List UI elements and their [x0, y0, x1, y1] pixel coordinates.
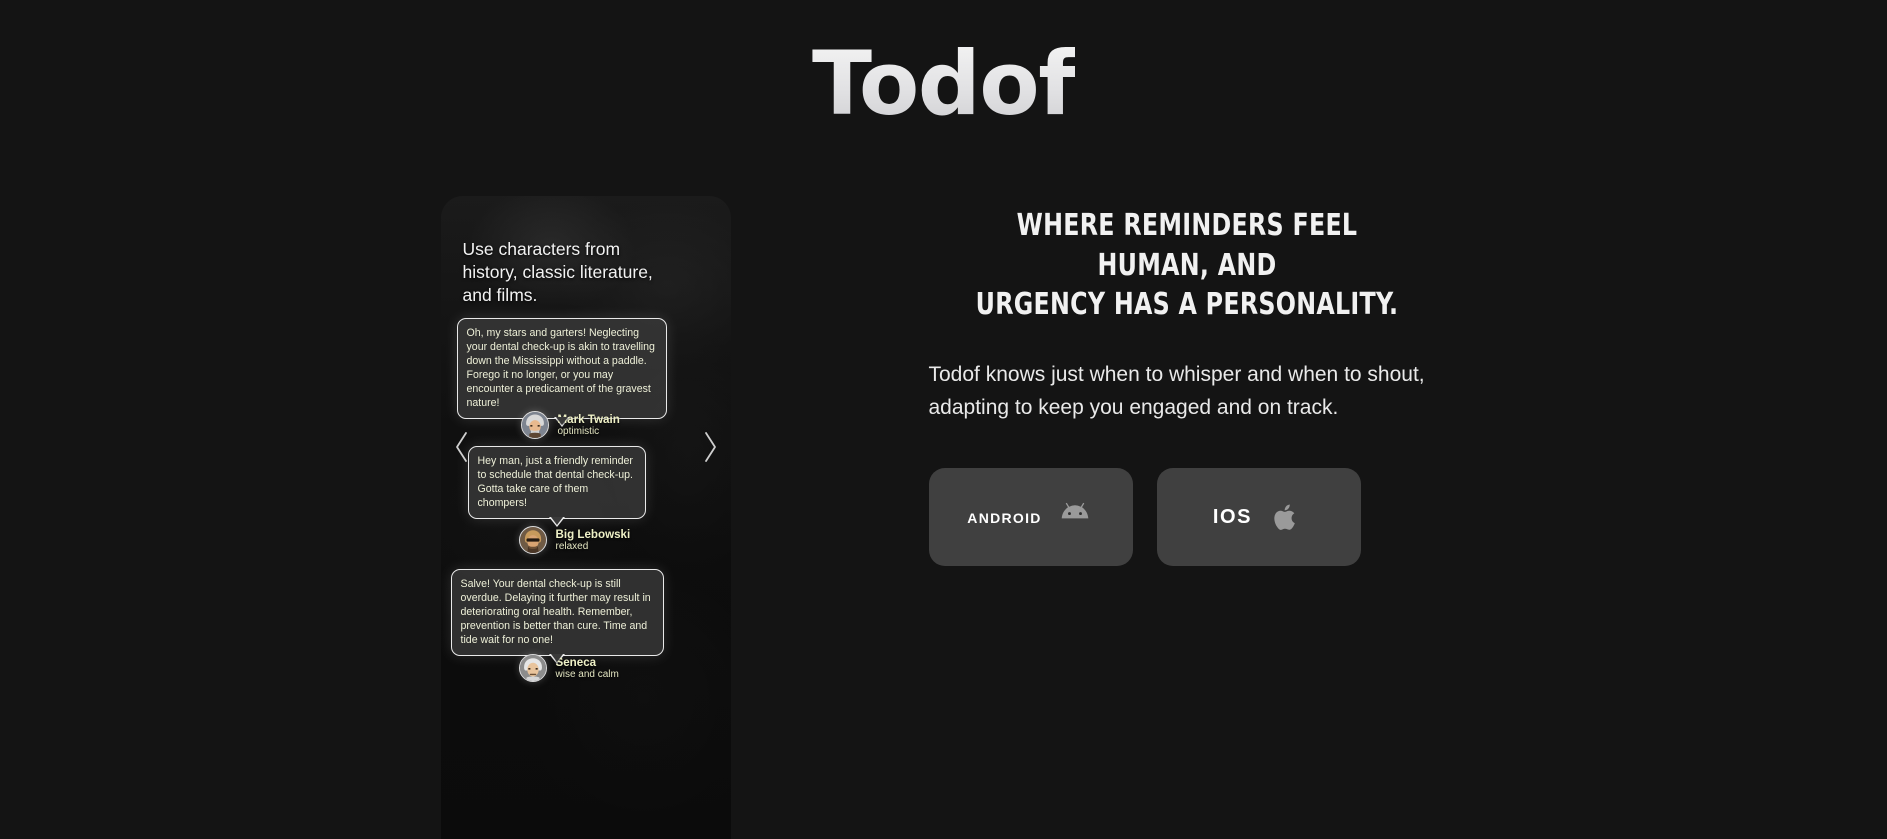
chevron-left-icon[interactable]	[452, 430, 472, 464]
character-mood: optimistic	[558, 426, 620, 437]
chat-bubble: Oh, my stars and garters! Neglecting you…	[457, 318, 667, 419]
ios-button-label: iOS	[1213, 506, 1252, 529]
page-title: Todof	[812, 38, 1075, 130]
android-button-label: Android	[967, 506, 1041, 529]
hero-copy-column: Where reminders feel human, and urgency …	[927, 196, 1447, 566]
android-robot-icon	[1056, 498, 1094, 536]
hero-headline: Where reminders feel human, and urgency …	[958, 206, 1416, 325]
phone-mockup: Use characters from history, classic lit…	[441, 196, 731, 839]
character-row[interactable]: Mark Twain optimistic	[521, 411, 620, 439]
phone-heading: Use characters from history, classic lit…	[463, 238, 663, 307]
avatar	[519, 654, 547, 682]
character-name: Seneca	[556, 656, 619, 669]
apple-logo-icon	[1266, 498, 1304, 536]
chat-bubble: Salve! Your dental check-up is still ove…	[451, 569, 664, 656]
avatar	[519, 526, 547, 554]
headline-line-1: Where reminders feel human, and	[958, 206, 1416, 285]
character-name: Big Lebowski	[556, 528, 631, 541]
hero-section: Use characters from history, classic lit…	[0, 196, 1887, 839]
character-meta: Seneca wise and calm	[556, 656, 619, 680]
avatar	[521, 411, 549, 439]
ios-download-button[interactable]: iOS	[1157, 468, 1361, 566]
brand-header: Todof	[0, 38, 1887, 130]
chevron-right-icon[interactable]	[700, 430, 720, 464]
android-download-button[interactable]: Android	[929, 468, 1133, 566]
character-row[interactable]: Seneca wise and calm	[519, 654, 619, 682]
chat-bubble: Hey man, just a friendly reminder to sch…	[468, 446, 646, 519]
page-root: Todof Use characters from history, class…	[0, 0, 1887, 839]
character-mood: wise and calm	[556, 669, 619, 680]
headline-line-2: urgency has a personality.	[958, 285, 1416, 325]
phone-screen: Use characters from history, classic lit…	[441, 196, 731, 839]
character-row[interactable]: Big Lebowski relaxed	[519, 526, 631, 554]
character-mood: relaxed	[556, 541, 631, 552]
hero-subcopy: Todof knows just when to whisper and whe…	[927, 359, 1447, 425]
character-meta: Big Lebowski relaxed	[556, 528, 631, 552]
store-button-row: Android iOS	[927, 468, 1447, 566]
